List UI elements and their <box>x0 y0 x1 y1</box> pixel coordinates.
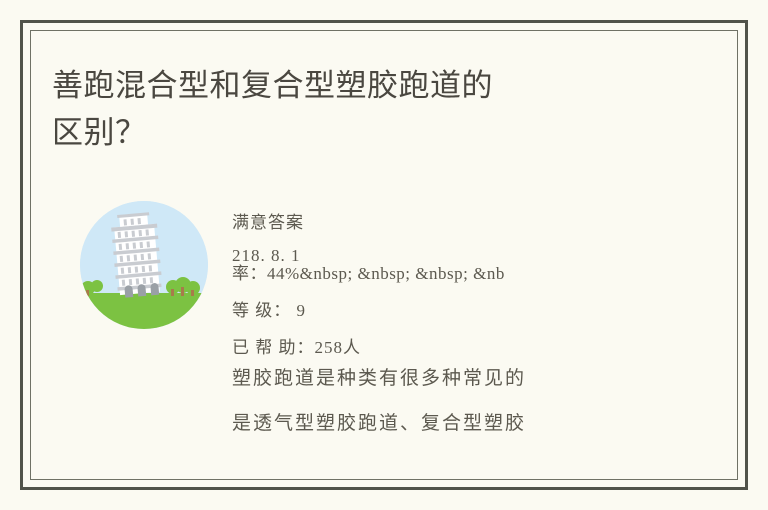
answer-body: 塑胶跑道是种类有很多种常见的 是透气型塑胶跑道、复合型塑胶 <box>232 356 682 446</box>
user-level-line: 等 级： 9 <box>232 292 672 329</box>
answer-body-line: 是透气型塑胶跑道、复合型塑胶 <box>232 401 682 446</box>
acceptance-rate-line: 率：44%&nbsp; &nbsp; &nbsp; &nb <box>232 255 672 292</box>
leaning-tower-of-pisa-illustration-icon <box>80 201 208 329</box>
answer-meta-secondary: 率：44%&nbsp; &nbsp; &nbsp; &nb 等 级： 9 已 帮… <box>232 255 672 366</box>
answer-body-line: 塑胶跑道是种类有很多种常见的 <box>232 356 682 401</box>
page-title: 善跑混合型和复合型塑胶跑道的 区别？ <box>52 62 652 156</box>
avatar <box>80 201 208 329</box>
satisfied-answer-heading: 满意答案 <box>232 206 672 239</box>
page-root: 善跑混合型和复合型塑胶跑道的 区别？ <box>0 0 768 510</box>
